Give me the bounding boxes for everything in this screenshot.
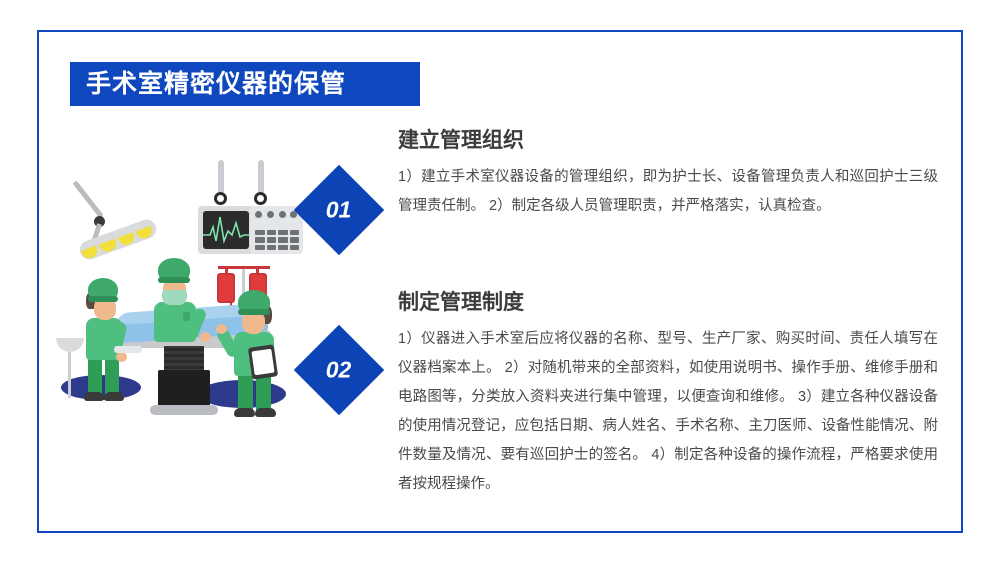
surgeon-center-pocket	[183, 312, 190, 321]
monitor-mount-knob-left	[214, 192, 227, 205]
slide-root: 手术室精密仪器的保管	[0, 0, 1000, 563]
operating-room-illustration	[50, 160, 305, 415]
section-1-body: 1）建立手术室仪器设备的管理组织，即为护士长、设备管理负责人和巡回护士三级管理责…	[398, 163, 938, 221]
nurse-right-hand	[216, 324, 227, 334]
nurse-right-cap-band	[238, 309, 270, 315]
surgeon-left-cap-band	[88, 296, 118, 302]
section-1-heading: 建立管理组织	[398, 128, 938, 153]
nurse-right-shoe-2	[255, 408, 276, 417]
operating-table-base	[150, 405, 218, 415]
instrument-tray	[114, 346, 142, 353]
surgeon-center-cap-band	[158, 277, 190, 283]
instrument-bowl	[56, 338, 84, 352]
monitor-mount-knob-right	[254, 192, 267, 205]
surgical-lamp-arm-upper	[73, 180, 104, 218]
section-2: 制定管理制度 1）仪器进入手术室后应将仪器的名称、型号、生产厂家、购买时间、责任…	[398, 290, 938, 499]
nurse-right-shoe	[234, 408, 255, 417]
vital-signs-monitor-screen	[203, 211, 249, 249]
page-title: 手术室精密仪器的保管	[86, 72, 346, 97]
monitor-ceiling-rod-left	[218, 160, 224, 194]
step-badge-01-label: 01	[326, 197, 352, 224]
instrument-bowl-stand	[68, 352, 71, 398]
surgeon-center-hand	[200, 332, 211, 342]
section-2-heading: 制定管理制度	[398, 290, 938, 315]
monitor-ceiling-rod-right	[258, 160, 264, 194]
step-badge-01: 01	[294, 165, 385, 256]
surgeon-left-shoe-2	[104, 392, 124, 401]
step-badge-02-label: 02	[326, 357, 352, 384]
surgeon-left-hand	[116, 352, 127, 362]
slide-title-banner: 手术室精密仪器的保管	[70, 62, 420, 106]
section-2-body: 1）仪器进入手术室后应将仪器的名称、型号、生产厂家、购买时间、责任人填写在仪器档…	[398, 325, 938, 499]
surgeon-center-face-mask	[162, 290, 187, 305]
section-1: 建立管理组织 1）建立手术室仪器设备的管理组织，即为护士长、设备管理负责人和巡回…	[398, 128, 938, 221]
step-badge-02: 02	[294, 325, 385, 416]
operating-table-pedestal	[158, 370, 210, 410]
surgeon-left-shoe	[84, 392, 104, 401]
clipboard-paper	[251, 349, 274, 376]
operating-table-column-ridges	[164, 348, 204, 370]
monitor-button-grid	[255, 230, 299, 250]
ecg-waveform-icon	[203, 211, 249, 249]
monitor-indicator-lights	[255, 211, 299, 227]
blood-bag-left	[217, 273, 235, 303]
